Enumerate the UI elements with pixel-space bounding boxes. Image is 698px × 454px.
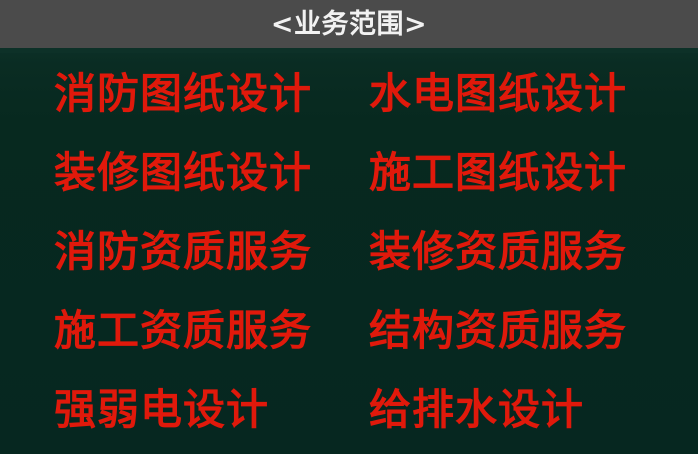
service-row: 消防图纸设计 水电图纸设计 xyxy=(0,67,698,121)
service-item: 水电图纸设计 xyxy=(333,73,698,115)
header-bar: <业务范围> xyxy=(0,0,698,48)
service-row: 消防资质服务 装修资质服务 xyxy=(0,225,698,279)
service-item: 结构资质服务 xyxy=(333,310,698,352)
service-row: 施工资质服务 结构资质服务 xyxy=(0,304,698,358)
services-panel: 消防图纸设计 水电图纸设计 装修图纸设计 施工图纸设计 消防资质服务 装修资质服… xyxy=(0,48,698,454)
service-item: 装修图纸设计 xyxy=(0,152,333,194)
page-title: <业务范围> xyxy=(271,11,427,38)
services-grid: 消防图纸设计 水电图纸设计 装修图纸设计 施工图纸设计 消防资质服务 装修资质服… xyxy=(0,48,698,454)
service-item: 施工图纸设计 xyxy=(333,152,698,194)
service-item: 消防图纸设计 xyxy=(0,73,333,115)
service-item: 消防资质服务 xyxy=(0,231,333,273)
business-scope-board: <业务范围> 消防图纸设计 水电图纸设计 装修图纸设计 施工图纸设计 消防资质服… xyxy=(0,0,698,454)
service-item: 给排水设计 xyxy=(333,389,698,431)
service-item: 强弱电设计 xyxy=(0,389,333,431)
service-item: 施工资质服务 xyxy=(0,310,333,352)
service-row: 强弱电设计 给排水设计 xyxy=(0,383,698,437)
service-row: 装修图纸设计 施工图纸设计 xyxy=(0,146,698,200)
service-item: 装修资质服务 xyxy=(333,231,698,273)
